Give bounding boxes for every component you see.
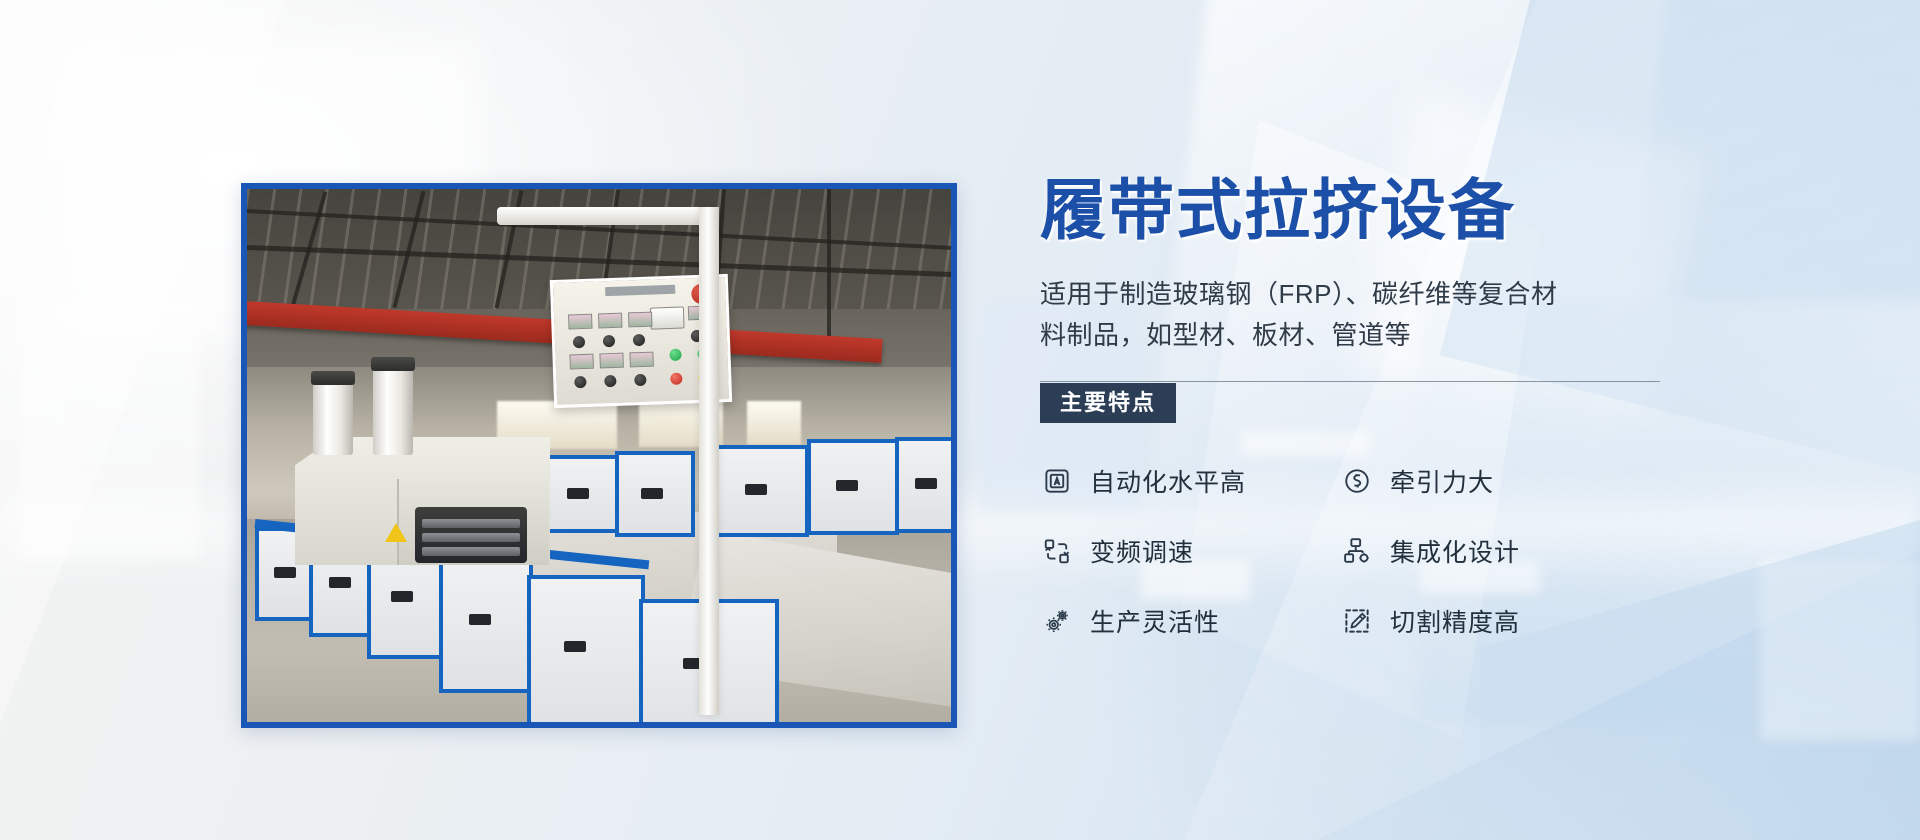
feature-label: 集成化设计 [1390,533,1520,569]
photo-digital-meter-5 [569,354,594,370]
photo-knob-2 [603,335,615,347]
photo-cabinet-5 [527,575,645,722]
photo-digital-meter-2 [598,313,623,329]
photo-knob-3 [633,334,645,346]
photo-knob-1 [573,336,585,348]
gears-flexibility-icon [1040,604,1074,638]
photo-knob-7 [634,374,646,386]
subtitle-line-2: 料制品，如型材、板材、管道等 [1040,320,1411,350]
photo-knob-5 [574,376,586,388]
photo-gantry-post [699,207,719,715]
photo-digital-meter-6 [599,353,624,369]
photo-knob-6 [604,375,616,387]
feature-item-traction: 牵引力大 [1340,463,1640,499]
photo-cylinder-cap-1 [311,371,355,385]
photo-indicator-green-1 [669,349,681,361]
photo-hydraulic-cylinder-1 [313,381,353,455]
feature-item-automation: 自动化水平高 [1040,463,1340,499]
photo-cabinet-rear-5 [895,437,951,533]
traction-waves-circle-icon [1340,464,1374,498]
photo-cabinet-4 [439,555,533,693]
photo-roof-brace-6 [827,189,831,339]
frequency-nodes-icon [1040,534,1074,568]
divider-row: 主要特点 [1040,381,1660,425]
photo-panel-brand-plate [605,285,675,296]
photo-warning-triangle-icon [385,523,407,542]
photo-die-bar-2 [422,533,520,542]
photo-indicator-red [670,373,682,385]
photo-die-bar-1 [422,519,520,528]
feature-label: 生产灵活性 [1090,603,1220,639]
subtitle: 适用于制造玻璃钢（FRP）、碳纤维等复合材 料制品，如型材、板材、管道等 [1040,274,1640,355]
pencil-dashed-precision-icon [1340,604,1374,638]
feature-label: 自动化水平高 [1090,463,1246,499]
feature-item-integration: 集成化设计 [1340,533,1640,569]
photo-cabinet-rear-2 [615,451,695,537]
photo-hydraulic-cylinder-2 [373,367,413,455]
photo-digital-meter-3 [628,312,653,328]
photo-gantry-arm [497,207,719,225]
feature-label: 切割精度高 [1390,603,1520,639]
integration-hierarchy-gear-icon [1340,534,1374,568]
photo-cabinet-rear-1 [543,455,619,533]
divider [1040,381,1660,382]
subtitle-line-1: 适用于制造玻璃钢（FRP）、碳纤维等复合材 [1040,279,1558,309]
feature-item-frequency: 变频调速 [1040,533,1340,569]
status-badge: 主要特点 [1040,383,1176,423]
feature-label: 变频调速 [1090,533,1194,569]
photo-cabinet-rear-4 [807,439,899,535]
feature-list: 自动化水平高 牵引力大 [1040,463,1660,639]
photo-cabinet-rear-3 [715,445,809,537]
feature-label: 牵引力大 [1390,463,1494,499]
banner-content: 履带式拉挤设备 适用于制造玻璃钢（FRP）、碳纤维等复合材 料制品，如型材、板材… [1040,175,1660,639]
pultrusion-line-factory-photo [241,183,957,728]
photo-analog-gauge [650,306,685,329]
page-title: 履带式拉挤设备 [1040,175,1660,246]
photo-die-bar-3 [422,547,520,556]
photo-window-3 [747,401,801,445]
automation-square-a-icon [1040,464,1074,498]
feature-item-cutting-precision: 切割精度高 [1340,603,1640,639]
feature-item-flexibility: 生产灵活性 [1040,603,1340,639]
photo-cylinder-cap-2 [371,357,415,371]
photo-digital-meter-7 [629,352,654,368]
photo-digital-meter-1 [568,314,593,330]
photo-content [247,189,951,722]
product-banner: 履带式拉挤设备 适用于制造玻璃钢（FRP）、碳纤维等复合材 料制品，如型材、板材… [0,0,1920,840]
